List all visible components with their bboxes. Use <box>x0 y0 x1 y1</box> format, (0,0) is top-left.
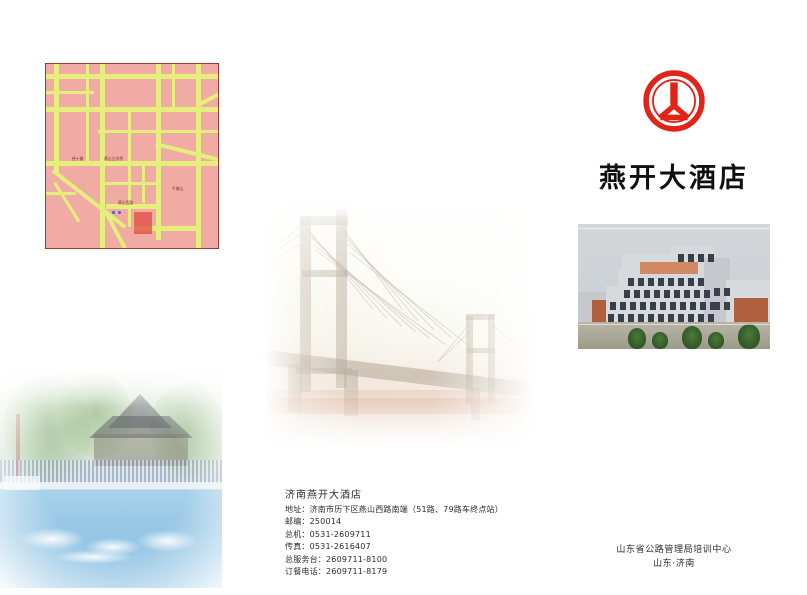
location-map: 燕山立交桥 经十路 燕山西路 千佛山 <box>45 63 219 249</box>
hotel-name-line: 济南燕开大酒店 <box>285 488 503 503</box>
highway-administration-logo <box>643 70 705 132</box>
map-label: 燕山立交桥 <box>104 156 123 162</box>
organization-name: 山东省公路管理局培训中心 <box>578 543 770 557</box>
map-canvas: 燕山立交桥 经十路 燕山西路 千佛山 <box>46 64 218 248</box>
scan-artifact-line <box>578 324 770 325</box>
spring-photo <box>0 372 222 588</box>
map-road <box>128 107 131 227</box>
bridge-pylon-top <box>466 314 495 320</box>
window-row <box>714 288 730 296</box>
organization-block: 山东省公路管理局培训中心 山东·济南 <box>578 543 770 571</box>
window-row <box>678 254 714 262</box>
tree <box>682 326 702 349</box>
address-line: 地址：济南市历下区燕山西路南端（51路、79路车终点站） <box>285 504 503 516</box>
frontdesk-line: 总服务台：2609711-8100 <box>285 554 503 566</box>
map-road <box>54 64 59 174</box>
map-road <box>46 74 218 79</box>
map-road <box>155 142 218 161</box>
map-poi-dot <box>112 211 115 214</box>
bridge-pier-beam <box>296 368 352 374</box>
bridge-pylon-crossbeam <box>467 348 495 353</box>
window-row <box>610 302 716 310</box>
map-label: 千佛山 <box>172 186 183 192</box>
window-row <box>714 302 730 310</box>
postcode-line: 邮编：250014 <box>285 516 503 528</box>
booking-line: 订餐电话：2609711-8179 <box>285 566 503 578</box>
bridge-photo <box>266 200 534 448</box>
map-hotel-marker <box>134 212 152 234</box>
map-label: 燕山西路 <box>118 200 133 206</box>
contact-block: 济南燕开大酒店 地址：济南市历下区燕山西路南端（51路、79路车终点站） 邮编：… <box>285 488 503 578</box>
tree <box>652 332 668 349</box>
fax-line: 传真：0531-2616407 <box>285 541 503 553</box>
tree <box>708 332 724 349</box>
map-road <box>172 64 175 108</box>
brochure-page: 燕山立交桥 经十路 燕山西路 千佛山 <box>0 0 807 595</box>
window-row <box>628 278 704 286</box>
map-road <box>46 107 218 112</box>
window-row <box>624 290 710 298</box>
map-road <box>46 161 218 166</box>
tree <box>738 324 760 349</box>
bridge-pylon-top <box>300 216 348 225</box>
switchboard-line: 总机：0531-2609711 <box>285 529 503 541</box>
orange-accent-band <box>640 262 698 274</box>
organization-location: 山东·济南 <box>578 557 770 571</box>
map-road <box>156 64 161 240</box>
tree <box>628 328 646 349</box>
map-label: 经十路 <box>72 156 83 162</box>
page-title: 燕开大酒店 <box>578 156 770 195</box>
hotel-exterior-photo <box>578 224 770 349</box>
spring-fade-overlay <box>0 372 222 588</box>
bridge-water <box>266 390 534 448</box>
map-poi-dot <box>118 211 121 214</box>
map-road <box>86 64 89 161</box>
map-road <box>142 161 145 203</box>
scan-artifact-line <box>578 228 770 229</box>
